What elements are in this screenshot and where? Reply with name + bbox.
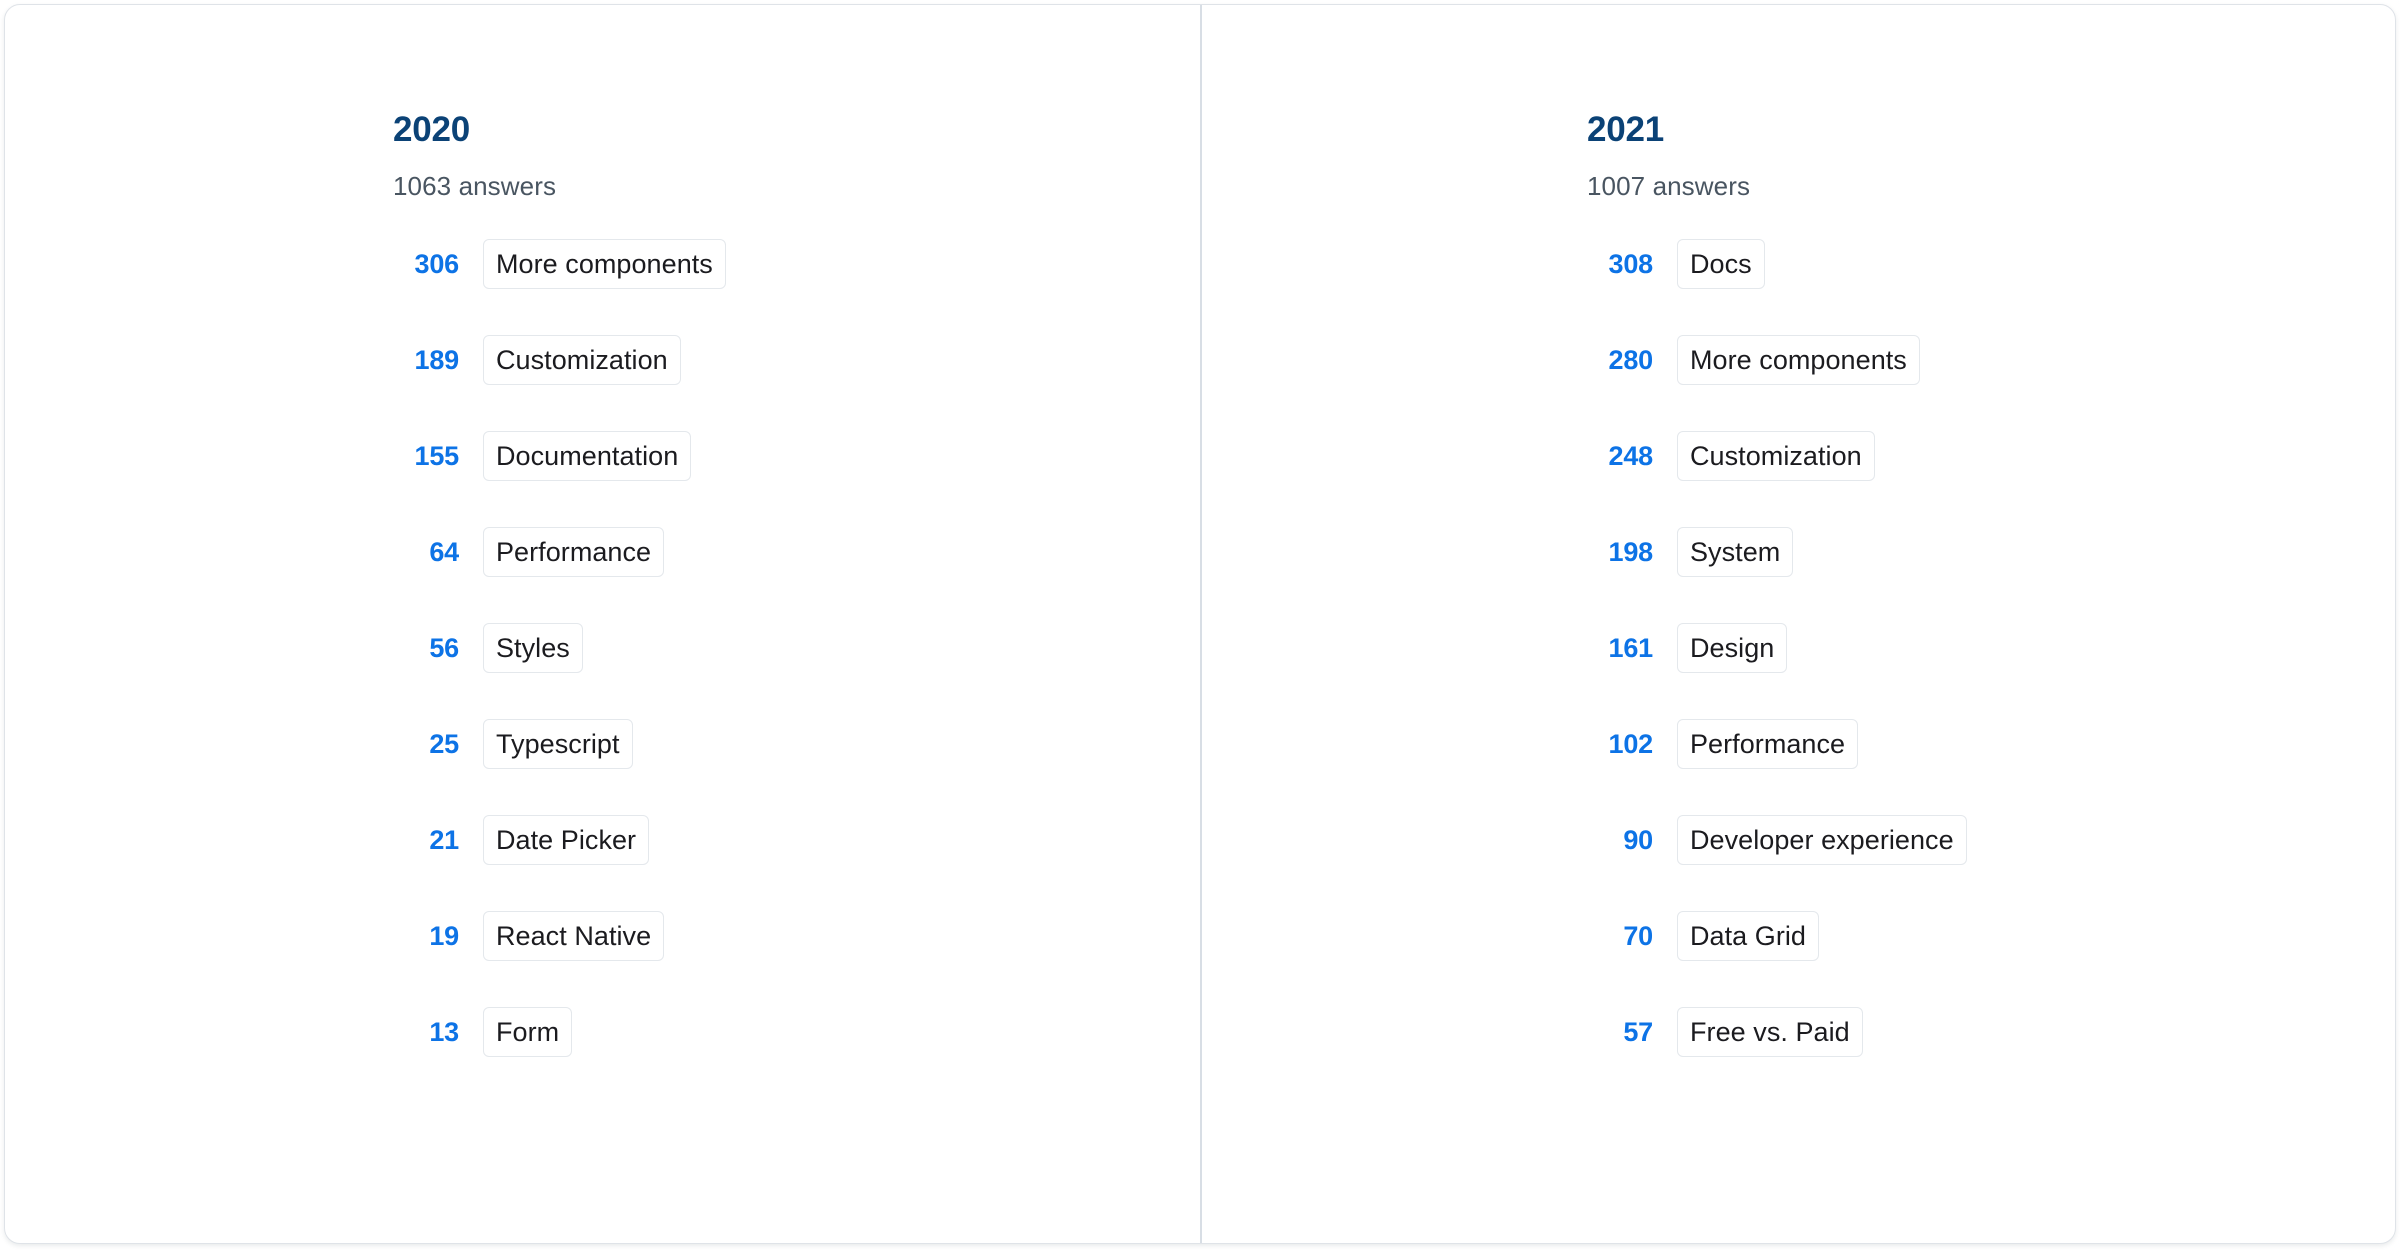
result-chip[interactable]: Data Grid: [1677, 911, 1819, 961]
result-chip[interactable]: React Native: [483, 911, 664, 961]
list-item[interactable]: 198 System: [1587, 527, 1967, 577]
page-title-2021: 2021: [1587, 112, 1967, 147]
list-item[interactable]: 306 More components: [393, 239, 726, 289]
list-item[interactable]: 19 React Native: [393, 911, 726, 961]
result-chip[interactable]: Developer experience: [1677, 815, 1967, 865]
list-item[interactable]: 64 Performance: [393, 527, 726, 577]
list-item[interactable]: 102 Performance: [1587, 719, 1967, 769]
result-count: 56: [393, 635, 459, 662]
page-title-2020: 2020: [393, 112, 726, 147]
result-chip[interactable]: More components: [483, 239, 726, 289]
list-item[interactable]: 90 Developer experience: [1587, 815, 1967, 865]
list-item[interactable]: 308 Docs: [1587, 239, 1967, 289]
result-count: 248: [1587, 443, 1653, 470]
result-count: 102: [1587, 731, 1653, 758]
result-chip[interactable]: More components: [1677, 335, 1920, 385]
result-chip[interactable]: System: [1677, 527, 1793, 577]
result-count: 90: [1587, 827, 1653, 854]
result-count: 189: [393, 347, 459, 374]
result-chip[interactable]: Date Picker: [483, 815, 649, 865]
result-chip[interactable]: Design: [1677, 623, 1787, 673]
result-count: 280: [1587, 347, 1653, 374]
year-panel-2020: 2020 1063 answers 306 More components 18…: [5, 5, 1200, 1243]
list-item[interactable]: 155 Documentation: [393, 431, 726, 481]
list-item[interactable]: 70 Data Grid: [1587, 911, 1967, 961]
result-count: 155: [393, 443, 459, 470]
result-chip[interactable]: Documentation: [483, 431, 691, 481]
result-count: 19: [393, 923, 459, 950]
list-item[interactable]: 280 More components: [1587, 335, 1967, 385]
list-item[interactable]: 57 Free vs. Paid: [1587, 1007, 1967, 1057]
list-item[interactable]: 25 Typescript: [393, 719, 726, 769]
result-chip[interactable]: Performance: [1677, 719, 1858, 769]
result-chip[interactable]: Docs: [1677, 239, 1765, 289]
result-chip[interactable]: Typescript: [483, 719, 633, 769]
result-count: 161: [1587, 635, 1653, 662]
answers-count-2020: 1063 answers: [393, 173, 726, 199]
result-count: 57: [1587, 1019, 1653, 1046]
result-count: 308: [1587, 251, 1653, 278]
panel-content-2021: 2021 1007 answers 308 Docs 280 More comp…: [1202, 5, 1967, 1057]
result-count: 198: [1587, 539, 1653, 566]
result-count: 70: [1587, 923, 1653, 950]
panel-content-2020: 2020 1063 answers 306 More components 18…: [5, 5, 726, 1057]
list-item[interactable]: 56 Styles: [393, 623, 726, 673]
result-count: 13: [393, 1019, 459, 1046]
list-item[interactable]: 13 Form: [393, 1007, 726, 1057]
list-item[interactable]: 21 Date Picker: [393, 815, 726, 865]
list-item[interactable]: 189 Customization: [393, 335, 726, 385]
result-count: 64: [393, 539, 459, 566]
answers-count-2021: 1007 answers: [1587, 173, 1967, 199]
year-panel-2021: 2021 1007 answers 308 Docs 280 More comp…: [1200, 5, 2395, 1243]
result-count: 25: [393, 731, 459, 758]
result-count: 306: [393, 251, 459, 278]
result-chip[interactable]: Customization: [483, 335, 681, 385]
result-chip[interactable]: Customization: [1677, 431, 1875, 481]
results-card: 2020 1063 answers 306 More components 18…: [4, 4, 2396, 1244]
result-chip[interactable]: Styles: [483, 623, 583, 673]
results-list-2021: 308 Docs 280 More components 248 Customi…: [1587, 239, 1967, 1057]
result-count: 21: [393, 827, 459, 854]
result-chip[interactable]: Free vs. Paid: [1677, 1007, 1863, 1057]
list-item[interactable]: 161 Design: [1587, 623, 1967, 673]
results-list-2020: 306 More components 189 Customization 15…: [393, 239, 726, 1057]
list-item[interactable]: 248 Customization: [1587, 431, 1967, 481]
result-chip[interactable]: Form: [483, 1007, 572, 1057]
result-chip[interactable]: Performance: [483, 527, 664, 577]
